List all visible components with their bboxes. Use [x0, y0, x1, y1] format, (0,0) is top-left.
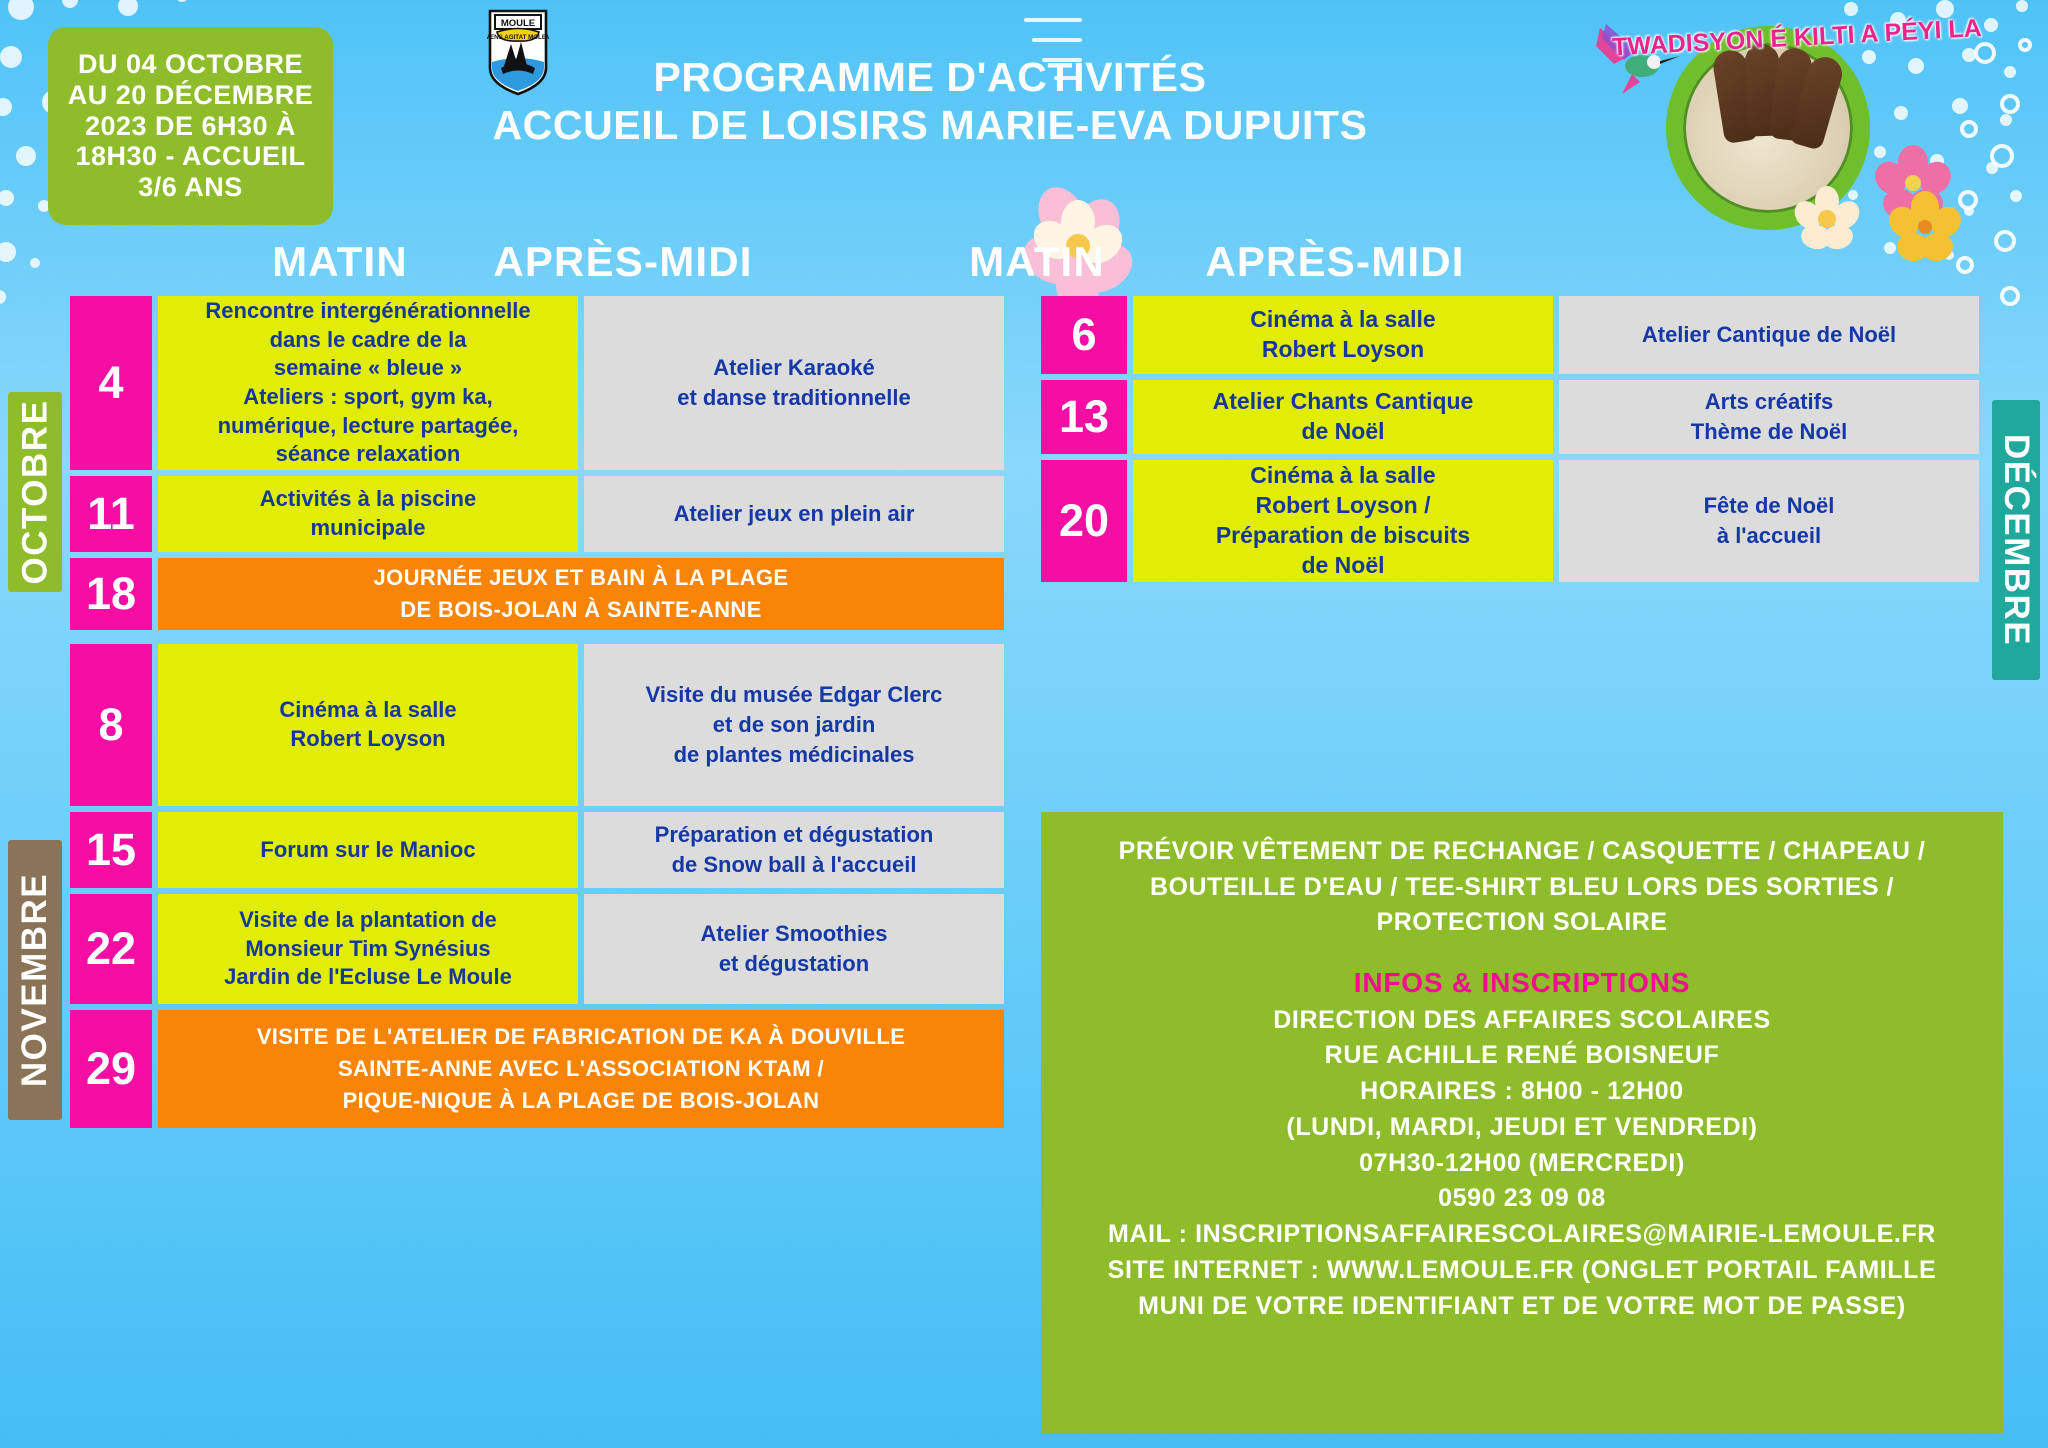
day-number-cell: 6 — [1041, 296, 1127, 374]
day-number-cell: 20 — [1041, 460, 1127, 582]
november-schedule-grid: 8Cinéma à la salle Robert LoysonVisite d… — [70, 644, 1004, 1128]
day-number-cell: 22 — [70, 894, 152, 1004]
morning-activity-cell: Atelier Chants Cantique de Noël — [1133, 380, 1553, 454]
svg-text:MENS AGITAT MOLEM: MENS AGITAT MOLEM — [487, 34, 549, 41]
svg-text:MOULE: MOULE — [501, 18, 535, 29]
contact-details-text: DIRECTION DES AFFAIRES SCOLAIRES RUE ACH… — [1059, 1003, 1985, 1325]
day-number-cell: 13 — [1041, 380, 1127, 454]
afternoon-activity-cell: Préparation et dégustation de Snow ball … — [584, 812, 1004, 888]
month-label-novembre: NOVEMBRE — [8, 840, 62, 1120]
badge-text: TWADISYON É KILTI A PÉYI LA — [1611, 15, 1972, 63]
page-title: PROGRAMME D'ACTIVITÉS ACCUEIL DE LOISIRS… — [300, 54, 1560, 150]
morning-activity-cell: Forum sur le Manioc — [158, 812, 578, 888]
afternoon-activity-cell: Fête de Noël à l'accueil — [1559, 460, 1979, 582]
wave-lines-decoration — [1008, 14, 1086, 84]
badge-text-ring: TWADISYON É KILTI A PÉYI LA — [1588, 4, 1988, 252]
day-number-cell: 29 — [70, 1010, 152, 1128]
full-day-activity-cell: JOURNÉE JEUX ET BAIN À LA PLAGE DE BOIS-… — [158, 558, 1004, 630]
day-number-cell: 4 — [70, 296, 152, 470]
december-schedule-grid: 6Cinéma à la salle Robert LoysonAtelier … — [1041, 296, 1979, 582]
afternoon-activity-cell: Visite du musée Edgar Clerc et de son ja… — [584, 644, 1004, 806]
infos-inscriptions-title: INFOS & INSCRIPTIONS — [1059, 967, 1985, 999]
afternoon-activity-cell: Atelier Smoothies et dégustation — [584, 894, 1004, 1004]
column-header-apresmidi-left: APRÈS-MIDI — [458, 238, 788, 286]
date-info-text: DU 04 OCTOBRE AU 20 DÉCEMBRE 2023 DE 6H3… — [56, 49, 325, 203]
day-number-cell: 18 — [70, 558, 152, 630]
title-line-2: ACCUEIL DE LOISIRS MARIE-EVA DUPUITS — [300, 102, 1560, 150]
gear-requirements-text: PRÉVOIR VÊTEMENT DE RECHANGE / CASQUETTE… — [1059, 834, 1985, 941]
month-label-decembre: DÉCEMBRE — [1992, 400, 2040, 680]
morning-activity-cell: Cinéma à la salle Robert Loyson — [158, 644, 578, 806]
day-number-cell: 8 — [70, 644, 152, 806]
date-info-box: DU 04 OCTOBRE AU 20 DÉCEMBRE 2023 DE 6H3… — [48, 27, 333, 225]
october-schedule-grid: 4Rencontre intergénérationnelle dans le … — [70, 296, 1004, 630]
afternoon-activity-cell: Atelier jeux en plein air — [584, 476, 1004, 552]
morning-activity-cell: Visite de la plantation de Monsieur Tim … — [158, 894, 578, 1004]
afternoon-activity-cell: Atelier Karaoké et danse traditionnelle — [584, 296, 1004, 470]
month-label-octobre: OCTOBRE — [8, 392, 62, 592]
afternoon-activity-cell: Atelier Cantique de Noël — [1559, 296, 1979, 374]
morning-activity-cell: Cinéma à la salle Robert Loyson — [1133, 296, 1553, 374]
info-panel: PRÉVOIR VÊTEMENT DE RECHANGE / CASQUETTE… — [1041, 812, 2003, 1434]
column-header-apresmidi-right: APRÈS-MIDI — [1170, 238, 1500, 286]
morning-activity-cell: Activités à la piscine municipale — [158, 476, 578, 552]
title-line-1: PROGRAMME D'ACTIVITÉS — [300, 54, 1560, 102]
twadisyon-badge: TWADISYON É KILTI A PÉYI LA — [1588, 4, 1988, 252]
day-number-cell: 15 — [70, 812, 152, 888]
morning-activity-cell: Rencontre intergénérationnelle dans le c… — [158, 296, 578, 470]
afternoon-activity-cell: Arts créatifs Thème de Noël — [1559, 380, 1979, 454]
column-header-matin-left: MATIN — [200, 238, 480, 286]
day-number-cell: 11 — [70, 476, 152, 552]
full-day-activity-cell: VISITE DE L'ATELIER DE FABRICATION DE KA… — [158, 1010, 1004, 1128]
morning-activity-cell: Cinéma à la salle Robert Loyson / Prépar… — [1133, 460, 1553, 582]
column-header-matin-right: MATIN — [892, 238, 1182, 286]
